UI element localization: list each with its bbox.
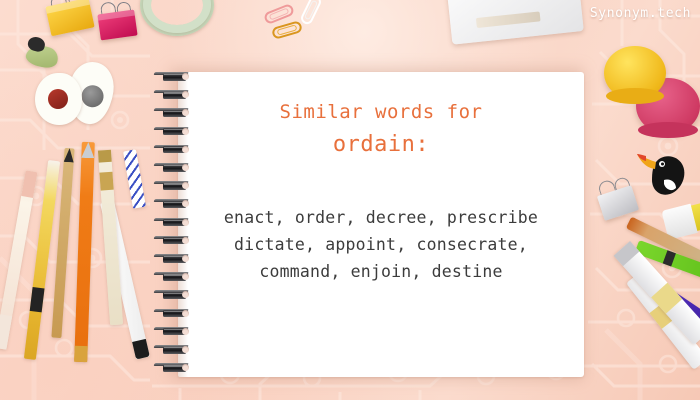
binder-clip-pink-icon <box>97 10 137 41</box>
synonym-line: dictate, appoint, consecrate, <box>224 232 538 259</box>
site-logo: Synonym.tech <box>590 6 691 21</box>
synonym-list: enact, order, decree, prescribedictate, … <box>224 205 538 285</box>
toucan-sticker-icon <box>636 150 692 198</box>
washi-tape-mint-icon <box>140 0 214 36</box>
eraser-avocado-red-icon <box>35 73 82 125</box>
synonym-line: enact, order, decree, prescribe <box>224 205 538 232</box>
macaron-yellow-icon <box>604 46 666 100</box>
synonym-line: command, enjoin, destine <box>224 259 538 286</box>
query-word: ordain: <box>333 129 429 161</box>
card-heading: Similar words for <box>280 98 483 127</box>
synonym-card: Similar words for ordain: enact, order, … <box>178 62 584 380</box>
